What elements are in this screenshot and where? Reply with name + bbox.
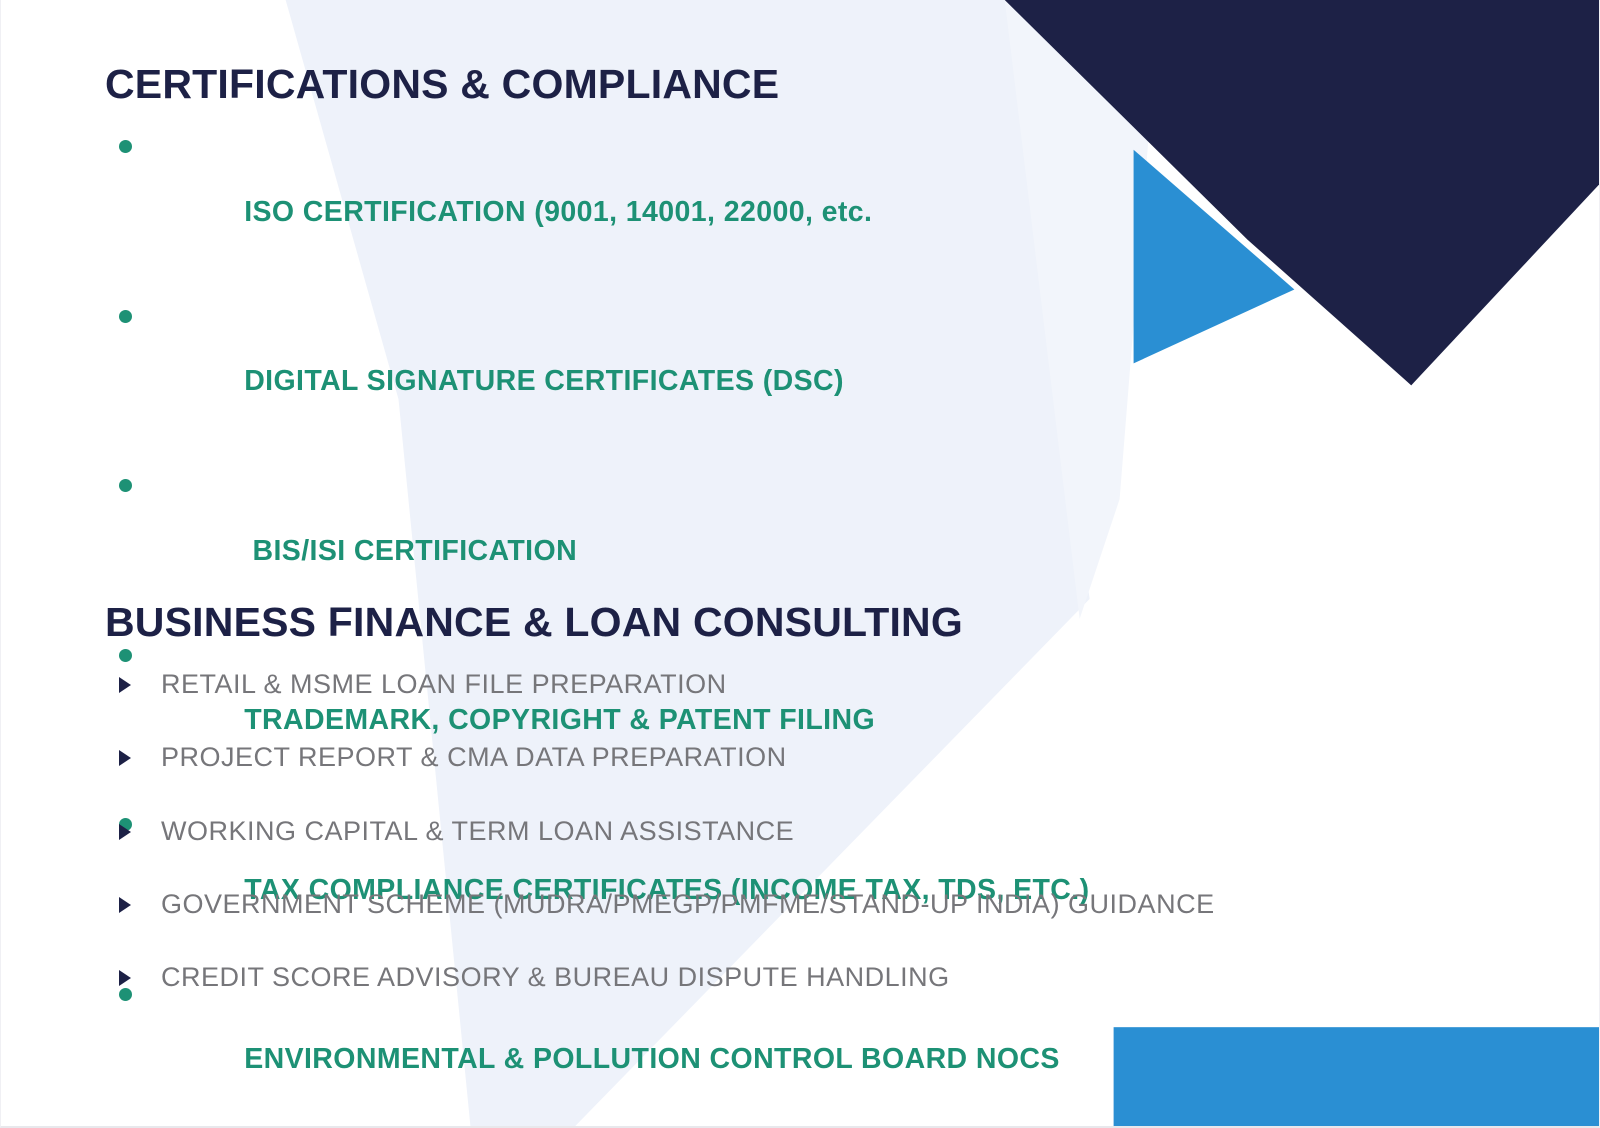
dot-bullet-icon (119, 310, 132, 323)
slide-content: CERTIFICATIONS & COMPLIANCE ISO CERTIFIC… (1, 0, 1600, 1128)
business-finance-list: RETAIL & MSME LOAN FILE PREPARATION PROJ… (105, 666, 1285, 995)
list-item-label: ENVIRONMENTAL & POLLUTION CONTROL BOARD … (244, 1043, 1060, 1075)
dot-bullet-icon (119, 140, 132, 153)
section-business-finance: BUSINESS FINANCE & LOAN CONSULTING RETAI… (105, 600, 1285, 995)
list-item-label: PROJECT REPORT & CMA DATA PREPARATION (161, 742, 787, 772)
list-item: PROJECT REPORT & CMA DATA PREPARATION (105, 739, 1261, 775)
list-item: ENVIRONMENTAL & POLLUTION CONTROL BOARD … (105, 976, 1165, 1111)
arrow-bullet-icon (119, 750, 131, 766)
list-item: BIS/ISI CERTIFICATION (105, 467, 1165, 602)
arrow-bullet-icon (119, 677, 131, 693)
dot-bullet-icon (119, 479, 132, 492)
section-title-certifications: CERTIFICATIONS & COMPLIANCE (105, 62, 1165, 106)
list-item: GOVERNMENT SCHEME (MUDRA/PMEGP/PMFME/STA… (105, 886, 1261, 922)
list-item: CREDIT SCORE ADVISORY & BUREAU DISPUTE H… (105, 959, 1261, 995)
list-item-label: RETAIL & MSME LOAN FILE PREPARATION (161, 669, 727, 699)
list-item: WORKING CAPITAL & TERM LOAN ASSISTANCE (105, 813, 1261, 849)
list-item-label: BIS/ISI CERTIFICATION (244, 535, 577, 567)
list-item-label: WORKING CAPITAL & TERM LOAN ASSISTANCE (161, 816, 794, 846)
list-item: RETAIL & MSME LOAN FILE PREPARATION (105, 666, 1261, 702)
arrow-bullet-icon (119, 970, 131, 986)
presentation-slide: CERTIFICATIONS & COMPLIANCE ISO CERTIFIC… (0, 0, 1600, 1128)
list-item-label: CREDIT SCORE ADVISORY & BUREAU DISPUTE H… (161, 962, 950, 992)
arrow-bullet-icon (119, 897, 131, 913)
arrow-bullet-icon (119, 824, 131, 840)
list-item-label: GOVERNMENT SCHEME (MUDRA/PMEGP/PMFME/STA… (161, 889, 1215, 919)
list-item-label: ISO CERTIFICATION (9001, 14001, 22000, e… (244, 196, 872, 228)
list-item-label: DIGITAL SIGNATURE CERTIFICATES (DSC) (244, 365, 844, 397)
section-title-business-finance: BUSINESS FINANCE & LOAN CONSULTING (105, 600, 1285, 644)
list-item: ISO CERTIFICATION (9001, 14001, 22000, e… (105, 128, 1165, 263)
list-item: DIGITAL SIGNATURE CERTIFICATES (DSC) (105, 298, 1165, 433)
